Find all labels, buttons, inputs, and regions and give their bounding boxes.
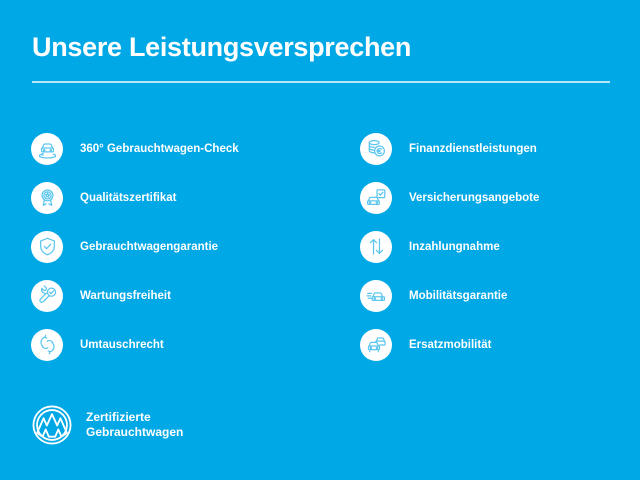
- arrows-up-down-icon: [360, 231, 392, 263]
- promise-item-wartungsfreiheit[interactable]: Wartungsfreiheit: [31, 271, 320, 320]
- promise-item-umtauschrecht[interactable]: Umtauschrecht: [31, 320, 320, 369]
- brand-lockup: Zertifizierte Gebrauchtwagen: [31, 404, 183, 446]
- title-divider: [32, 81, 610, 83]
- car-speed-icon: [360, 280, 392, 312]
- volkswagen-logo-icon: [31, 404, 73, 446]
- promises-column-right: Finanzdienstleistungen Versicherungsange…: [320, 124, 640, 369]
- promise-item-finanzdienstleistungen[interactable]: Finanzdienstleistungen: [360, 124, 640, 173]
- promise-item-inzahlungnahme[interactable]: Inzahlungnahme: [360, 222, 640, 271]
- promises-column-left: 360° Gebrauchtwagen-Check Qualitätszerti…: [0, 124, 320, 369]
- award-rosette-icon: [31, 182, 63, 214]
- car-360-check-icon: [31, 133, 63, 165]
- promise-label: Wartungsfreiheit: [80, 289, 171, 303]
- promise-label: Ersatzmobilität: [409, 338, 491, 352]
- promise-item-qualitaetszertifikat[interactable]: Qualitätszertifikat: [31, 173, 320, 222]
- promise-item-versicherungsangebote[interactable]: Versicherungsangebote: [360, 173, 640, 222]
- promises-columns: 360° Gebrauchtwagen-Check Qualitätszerti…: [0, 124, 640, 369]
- promise-item-gebrauchtwagen-check[interactable]: 360° Gebrauchtwagen-Check: [31, 124, 320, 173]
- wrench-check-icon: [31, 280, 63, 312]
- promise-label: Qualitätszertifikat: [80, 191, 177, 205]
- brand-text: Zertifizierte Gebrauchtwagen: [86, 410, 183, 441]
- promise-item-ersatzmobilitaet[interactable]: Ersatzmobilität: [360, 320, 640, 369]
- promise-label: 360° Gebrauchtwagen-Check: [80, 142, 239, 156]
- car-document-check-icon: [360, 182, 392, 214]
- promises-slide: Unsere Leistungsversprechen 360° Gebrauc…: [0, 0, 640, 480]
- brand-line-1: Zertifizierte: [86, 410, 183, 426]
- promise-label: Versicherungsangebote: [409, 191, 539, 205]
- brand-line-2: Gebrauchtwagen: [86, 425, 183, 441]
- exchange-arrows-icon: [31, 329, 63, 361]
- coins-euro-icon: [360, 133, 392, 165]
- promise-label: Gebrauchtwagengarantie: [80, 240, 218, 254]
- shield-check-icon: [31, 231, 63, 263]
- two-cars-icon: [360, 329, 392, 361]
- promise-label: Inzahlungnahme: [409, 240, 500, 254]
- promise-label: Finanzdienstleistungen: [409, 142, 537, 156]
- promise-item-gebrauchtwagengarantie[interactable]: Gebrauchtwagengarantie: [31, 222, 320, 271]
- page-title: Unsere Leistungsversprechen: [32, 30, 610, 64]
- header: Unsere Leistungsversprechen: [32, 30, 610, 64]
- promise-label: Mobilitätsgarantie: [409, 289, 507, 303]
- promise-item-mobilitaetsgarantie[interactable]: Mobilitätsgarantie: [360, 271, 640, 320]
- promise-label: Umtauschrecht: [80, 338, 164, 352]
